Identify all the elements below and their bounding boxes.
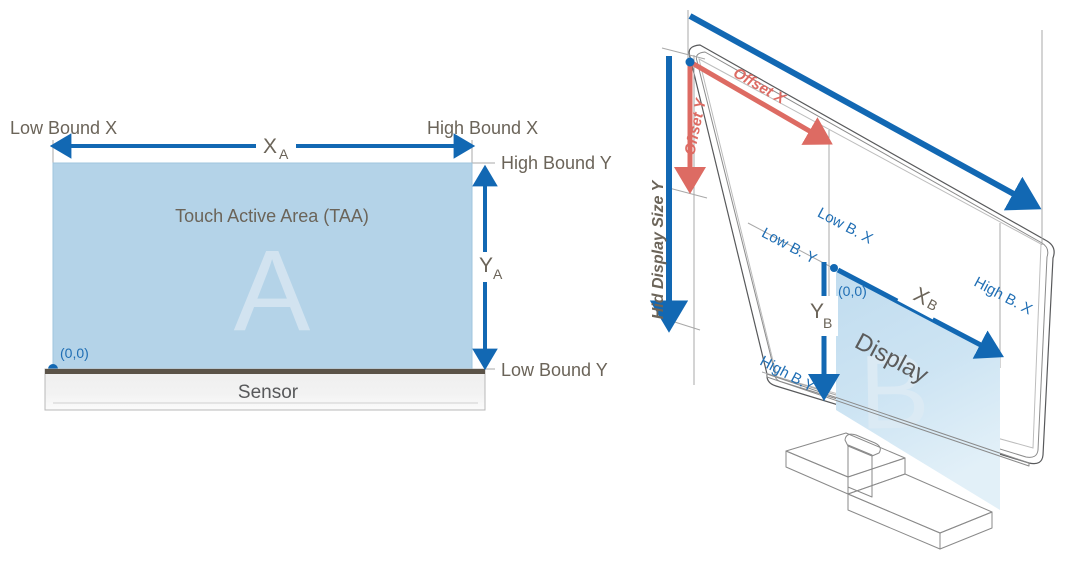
x-a-dimension-label: X bbox=[263, 135, 277, 158]
taa-origin-label: (0,0) bbox=[60, 345, 89, 361]
hid-display-size-y-label: Hid Display Size Y bbox=[650, 179, 667, 319]
low-b-x-label: Low B. X bbox=[815, 204, 876, 247]
low-bound-x-label: Low Bound X bbox=[10, 118, 117, 138]
y-a-dimension-subscript: A bbox=[493, 266, 503, 282]
monitor-stand-right bbox=[848, 458, 905, 494]
low-b-y-label: Low B. Y bbox=[759, 224, 820, 267]
high-bound-x-label: High Bound X bbox=[427, 118, 538, 138]
display-origin-label: (0,0) bbox=[838, 283, 867, 299]
high-bound-y-label: High Bound Y bbox=[501, 153, 612, 173]
y-a-dimension-label: Y bbox=[479, 254, 493, 277]
left-panel-group: A Touch Active Area (TAA) (0,0) Sensor X… bbox=[10, 118, 612, 410]
high-b-x-label: High B. X bbox=[971, 274, 1035, 319]
hid-origin-dot bbox=[686, 58, 695, 67]
hid-display-size-x-arrow bbox=[690, 16, 1032, 204]
taa-watermark-letter: A bbox=[234, 227, 311, 355]
offset-y-end-tick bbox=[669, 188, 707, 198]
x-a-dimension-subscript: A bbox=[279, 146, 289, 162]
display-origin-dot bbox=[830, 264, 838, 272]
monitor-stand-base-front bbox=[848, 494, 940, 549]
offset-y-label: Offset Y bbox=[681, 95, 710, 156]
offset-x-arrow bbox=[692, 63, 825, 140]
y-b-dimension-label: Y bbox=[810, 300, 824, 323]
right-panel-group: B Display Hid Display Size Y Offset X Of… bbox=[650, 10, 1054, 549]
low-bound-y-label: Low Bound Y bbox=[501, 360, 608, 380]
monitor-neck bbox=[848, 445, 872, 497]
taa-title-label: Touch Active Area (TAA) bbox=[175, 206, 369, 226]
y-b-dimension-subscript: B bbox=[823, 315, 832, 331]
diagram-root: A Touch Active Area (TAA) (0,0) Sensor X… bbox=[0, 0, 1074, 562]
monitor-stand-base-side bbox=[940, 512, 992, 549]
technical-diagram-svg: A Touch Active Area (TAA) (0,0) Sensor X… bbox=[0, 0, 1074, 562]
monitor-stand-left bbox=[786, 451, 848, 494]
sensor-top-edge bbox=[45, 369, 485, 374]
sensor-label: Sensor bbox=[238, 382, 299, 403]
